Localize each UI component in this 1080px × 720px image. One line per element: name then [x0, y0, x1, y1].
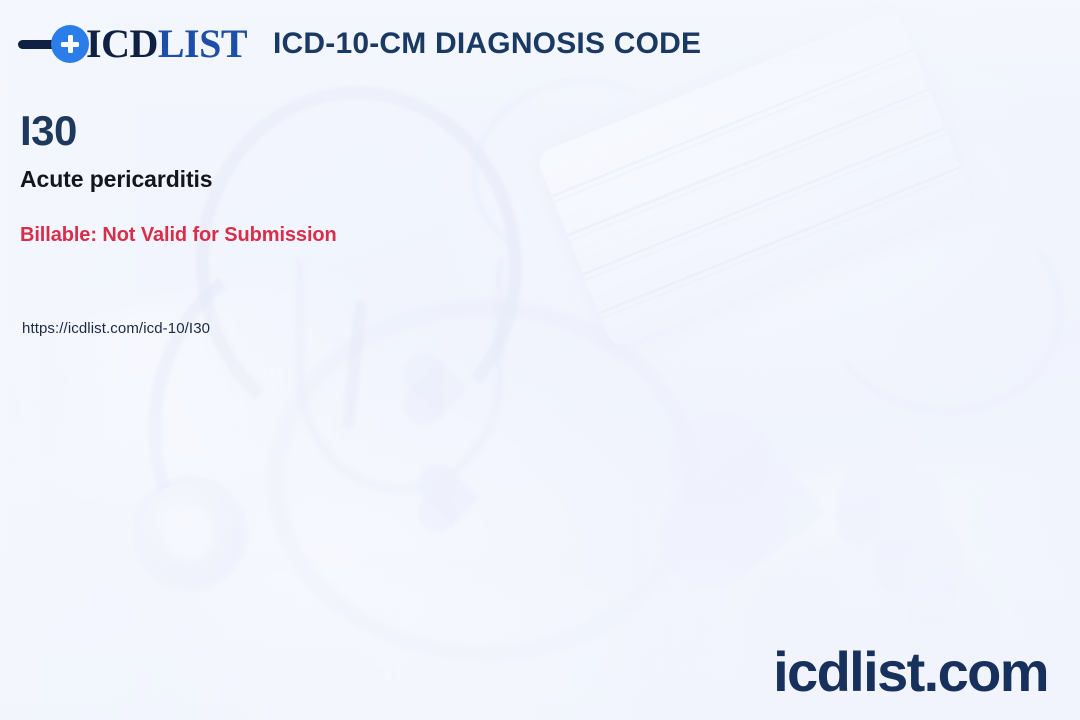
brand-watermark: icdlist.com: [773, 644, 1048, 700]
diagnosis-description: Acute pericarditis: [20, 166, 213, 193]
logo-word-icd: ICD: [86, 21, 158, 66]
page-title: ICD-10-CM DIAGNOSIS CODE: [273, 27, 701, 61]
diagnosis-code: I30: [20, 110, 77, 152]
icd-code-card: ICDLIST ICD-10-CM DIAGNOSIS CODE I30 Acu…: [0, 0, 1080, 720]
header: ICDLIST ICD-10-CM DIAGNOSIS CODE: [18, 24, 701, 64]
card-content: ICDLIST ICD-10-CM DIAGNOSIS CODE I30 Acu…: [0, 0, 1080, 720]
logo-wordmark: ICDLIST: [86, 24, 247, 64]
icdlist-logo[interactable]: ICDLIST: [18, 24, 247, 64]
plus-icon: [51, 25, 89, 63]
billable-status-badge: Billable: Not Valid for Submission: [20, 224, 337, 247]
logo-word-list: LIST: [158, 21, 247, 66]
source-url[interactable]: https://icdlist.com/icd-10/I30: [22, 320, 210, 337]
